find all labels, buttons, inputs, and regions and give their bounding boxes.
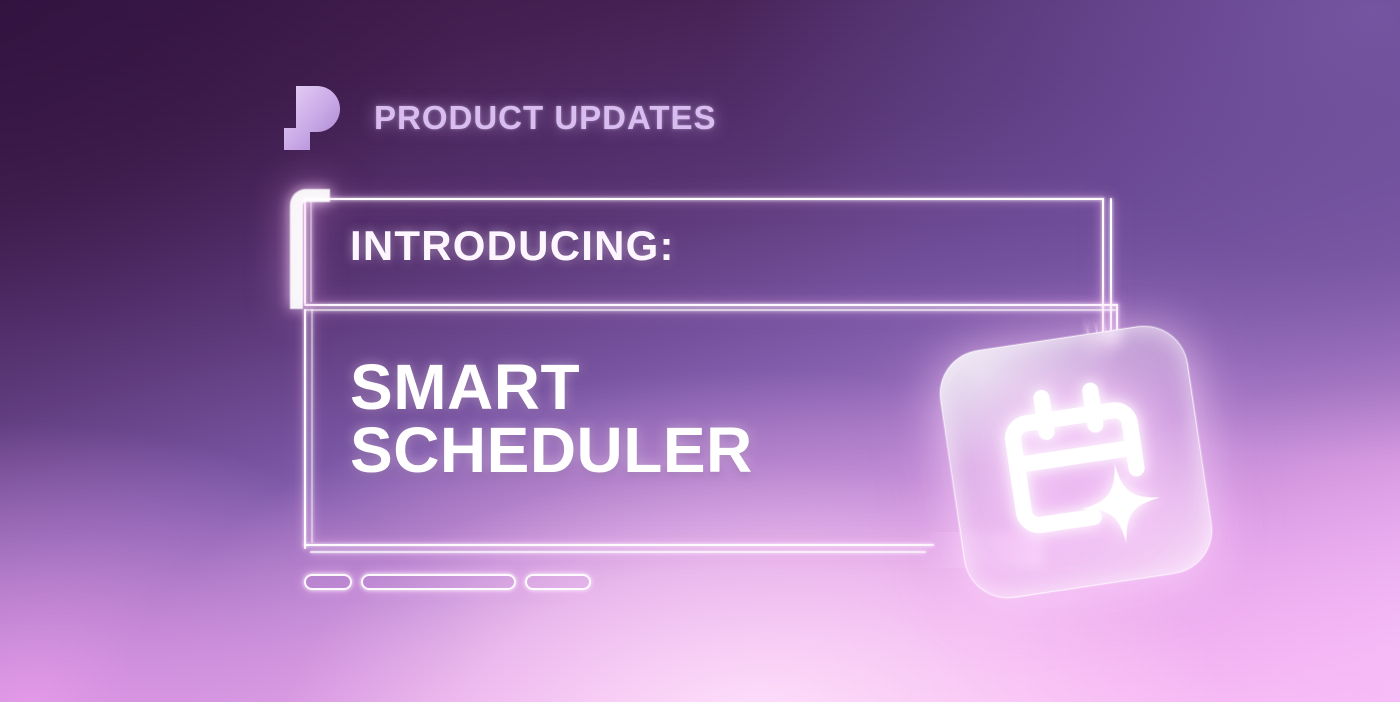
frame-line-bottom-inner <box>310 551 926 553</box>
progress-bar-short <box>304 574 352 590</box>
frame-line-left-lower <box>304 309 306 549</box>
frame-line-left-lower-2 <box>311 309 313 543</box>
progress-bar-long <box>361 574 516 590</box>
announcement-kicker: INTRODUCING: <box>350 222 675 270</box>
frame-line-bottom-outer <box>304 544 934 546</box>
frame-divider-primary <box>304 304 1118 306</box>
feature-icon-tile <box>934 320 1218 604</box>
promo-banner: PRODUCT UPDATES INTRODUCING: SMART SCHED… <box>0 0 1400 702</box>
calendar-sparkle-icon <box>968 354 1184 570</box>
decor-bar-group <box>304 574 591 590</box>
corner-bracket-accent <box>290 189 330 309</box>
brand-title: PRODUCT UPDATES <box>374 99 717 137</box>
pendo-p-logo-icon <box>284 86 346 150</box>
brand-lockup: PRODUCT UPDATES <box>284 86 717 150</box>
frame-divider-secondary <box>304 309 1116 311</box>
frame-line-right-inner <box>1102 198 1104 338</box>
progress-bar-medium <box>525 574 591 590</box>
frame-line-top <box>304 198 1104 200</box>
announcement-headline: SMART SCHEDULER <box>350 356 753 481</box>
